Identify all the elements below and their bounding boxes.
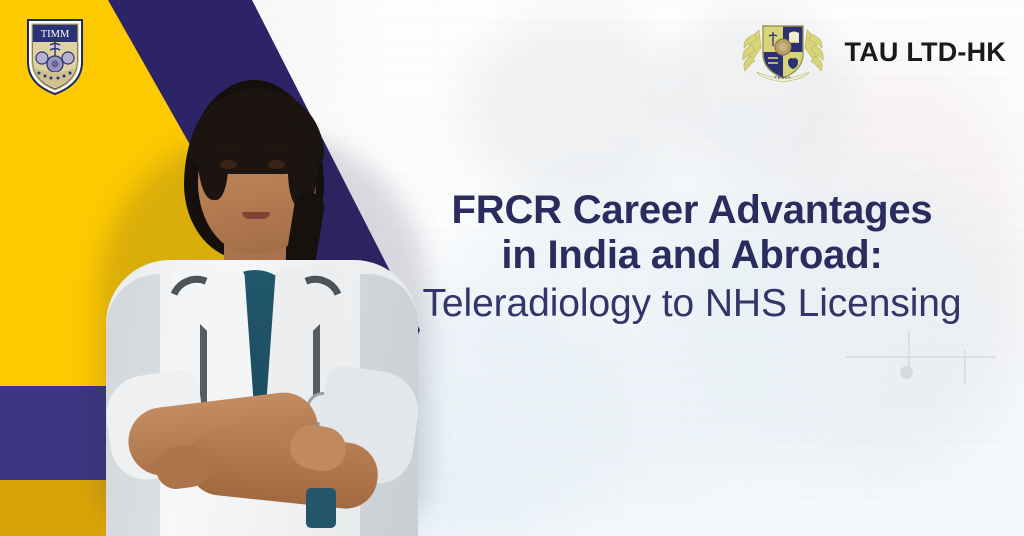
tau-brand-text: TAU LTD-HK [845,37,1006,68]
doctor-portrait [92,74,428,536]
title-line-2: in India and Abroad: [380,233,1004,278]
title-line-1: FRCR Career Advantages [380,188,1004,233]
tau-logo[interactable]: TESLA [737,18,829,86]
tau-brand[interactable]: TESLA TAU LTD-HK [737,18,1006,86]
timm-crest-label: TIMM [41,29,70,40]
tau-crest-motto: TESLA [774,75,791,80]
title-line-3: Teleradiology to NHS Licensing [380,280,1004,328]
timm-logo[interactable]: TIMM [24,16,86,96]
banner: TIMM [0,0,1024,536]
iv-pole-icon [846,330,996,480]
title-block: FRCR Career Advantages in India and Abro… [380,188,1004,327]
